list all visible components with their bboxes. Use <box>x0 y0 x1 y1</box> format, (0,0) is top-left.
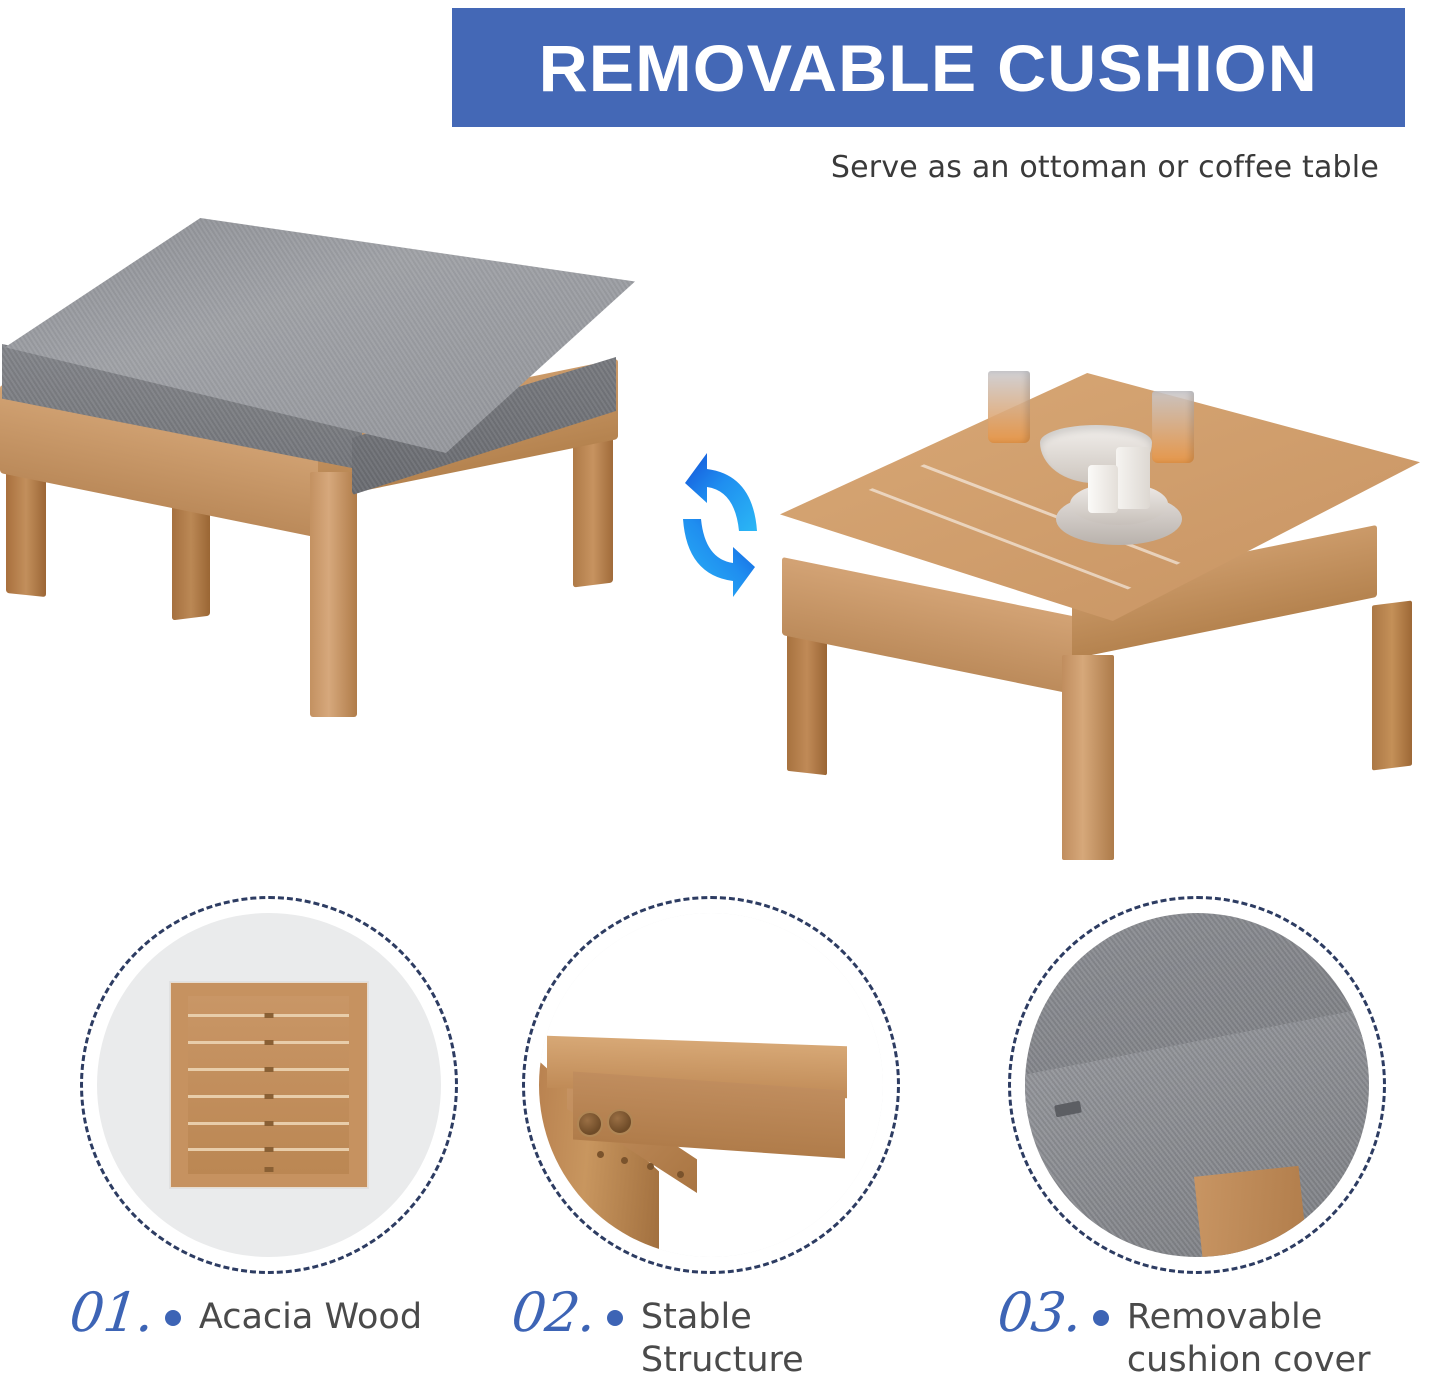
feature-circle-2 <box>522 896 900 1274</box>
header-subtitle: Serve as an ottoman or coffee table <box>831 150 1379 185</box>
cushion-zipper-closeup-photo <box>1025 913 1369 1257</box>
slatted-wood-tabletop-photo <box>97 913 441 1257</box>
table-back-right-leg <box>1372 601 1412 771</box>
amber-glass-right <box>1152 391 1194 463</box>
coffee-table-product-image <box>770 365 1430 865</box>
screw-hole-2 <box>621 1157 628 1164</box>
feature-label-3: Removable cushion cover <box>1127 1286 1371 1381</box>
feature-card-3: 03. Removable cushion cover <box>1008 896 1408 1274</box>
white-candle-tall <box>1116 447 1150 509</box>
feature-caption-2: 02. Stable Structure <box>512 1286 922 1381</box>
feature-card-1: 01. Acacia Wood <box>80 896 480 1274</box>
page-title: REMOVABLE CUSHION <box>539 30 1318 106</box>
screw-hole-4 <box>677 1171 684 1178</box>
ottoman-product-image <box>0 210 660 740</box>
white-candle-short <box>1088 465 1118 513</box>
feature-label-1: Acacia Wood <box>199 1286 422 1339</box>
feature-caption-3: 03. Removable cushion cover <box>998 1286 1370 1381</box>
screw-hole-3 <box>647 1163 654 1170</box>
feature-caption-1: 01. Acacia Wood <box>70 1286 422 1340</box>
feature-bullet-1 <box>165 1310 181 1326</box>
wood-board <box>170 982 368 1188</box>
table-front-center-leg <box>1062 655 1114 860</box>
feature-label-2: Stable Structure <box>641 1286 922 1381</box>
wood-corner-joint-bolts-photo <box>539 913 883 1257</box>
feature-number-3: 03. <box>995 1286 1084 1340</box>
feature-circle-3 <box>1008 896 1386 1274</box>
swap-arrows-icon <box>655 435 785 615</box>
screw-hole-1 <box>597 1151 604 1158</box>
feature-bullet-2 <box>607 1310 623 1326</box>
feature-circle-1 <box>80 896 458 1274</box>
banner-right-torn-edge <box>1402 6 1410 129</box>
feature-highlights-section: 01. Acacia Wood 02. Stable Structu <box>0 880 1445 1387</box>
wood-board-inner <box>188 996 349 1174</box>
hero-comparison-row <box>0 190 1445 870</box>
wood-frame-under-cushion <box>1194 1166 1311 1257</box>
feature-card-2: 02. Stable Structure <box>522 896 922 1274</box>
banner-left-torn-edge <box>447 6 455 129</box>
bolt-1 <box>577 1111 603 1137</box>
feature-bullet-3 <box>1093 1310 1109 1326</box>
amber-glass-left <box>988 371 1030 443</box>
bolt-2 <box>607 1109 633 1135</box>
feature-number-1: 01. <box>67 1286 156 1340</box>
header-banner: REMOVABLE CUSHION <box>452 8 1405 127</box>
feature-number-2: 02. <box>509 1286 598 1340</box>
ottoman-front-center-leg <box>310 472 357 717</box>
